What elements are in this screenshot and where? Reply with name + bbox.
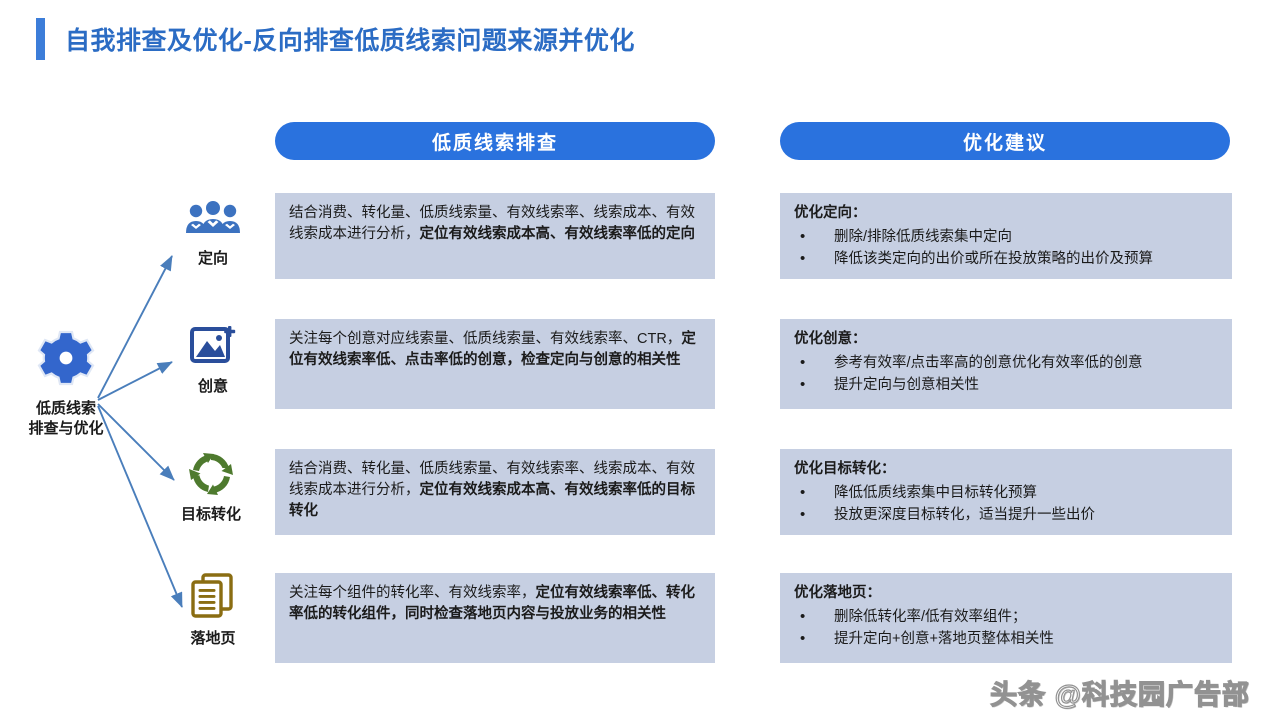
category-label-creative: 创意 [165, 375, 261, 396]
category-landing-page: 落地页 [165, 572, 261, 648]
image-add-icon [188, 324, 238, 368]
advice-item: 提升定向+创意+落地页整体相关性 [794, 628, 1220, 650]
advice-list: 降低低质线索集中目标转化预算 投放更深度目标转化，适当提升一些出价 [794, 482, 1220, 527]
watermark: 头条 @科技园广告部 [990, 673, 1250, 712]
advice-item: 提升定向与创意相关性 [794, 374, 1220, 396]
advice-title: 优化定向： [794, 203, 1220, 224]
advice-box-targeting: 优化定向： 删除/排除低质线索集中定向 降低该类定向的出价或所在投放策略的出价及… [780, 193, 1232, 279]
category-label-targeting: 定向 [165, 247, 261, 268]
category-creative: 创意 [165, 324, 261, 396]
checklist-box-targeting: 结合消费、转化量、低质线索量、有效线索率、线索成本、有效线索成本进行分析，定位有… [275, 193, 715, 279]
checklist-box-landing-page: 关注每个组件的转化率、有效线索率，定位有效线索率低、转化率低的转化组件，同时检查… [275, 573, 715, 663]
root-label: 低质线索 排查与优化 [6, 399, 126, 438]
title-accent-bar [36, 18, 45, 60]
root-label-line2: 排查与优化 [6, 419, 126, 439]
people-group-icon [183, 200, 243, 240]
column-header-checklist: 低质线索排查 [275, 122, 715, 160]
checklist-box-conversion: 结合消费、转化量、低质线索量、有效线索率、线索成本、有效线索成本进行分析，定位有… [275, 449, 715, 535]
slide-canvas: 自我排查及优化-反向排查低质线索问题来源并优化 低质线索排查 优化建议 低质线索… [0, 0, 1280, 720]
advice-list: 删除低转化率/低有效率组件； 提升定向+创意+落地页整体相关性 [794, 606, 1220, 651]
recycle-arrows-icon [187, 450, 235, 496]
advice-title: 优化创意： [794, 329, 1220, 350]
checklist-text-normal: 关注每个创意对应线索量、低质线索量、有效线索率、CTR， [289, 331, 681, 347]
advice-item: 参考有效率/点击率高的创意优化有效率低的创意 [794, 352, 1220, 374]
title-text: 自我排查及优化-反向排查低质线索问题来源并优化 [65, 21, 635, 57]
advice-list: 参考有效率/点击率高的创意优化有效率低的创意 提升定向与创意相关性 [794, 352, 1220, 397]
category-label-conversion: 目标转化 [163, 503, 259, 524]
checklist-box-creative: 关注每个创意对应线索量、低质线索量、有效线索率、CTR，定位有效线索率低、点击率… [275, 319, 715, 409]
category-label-landing-page: 落地页 [165, 627, 261, 648]
advice-item: 降低低质线索集中目标转化预算 [794, 482, 1220, 504]
checklist-text-normal: 关注每个组件的转化率、有效线索率， [289, 585, 536, 601]
page-title: 自我排查及优化-反向排查低质线索问题来源并优化 [36, 18, 635, 60]
advice-item: 投放更深度目标转化，适当提升一些出价 [794, 504, 1220, 526]
category-conversion: 目标转化 [163, 450, 259, 524]
documents-icon [189, 572, 237, 620]
root-label-line1: 低质线索 [6, 399, 126, 419]
advice-item: 删除/排除低质线索集中定向 [794, 226, 1220, 248]
gear-icon [34, 330, 98, 390]
advice-box-conversion: 优化目标转化： 降低低质线索集中目标转化预算 投放更深度目标转化，适当提升一些出… [780, 449, 1232, 535]
category-targeting: 定向 [165, 200, 261, 268]
advice-box-creative: 优化创意： 参考有效率/点击率高的创意优化有效率低的创意 提升定向与创意相关性 [780, 319, 1232, 409]
advice-title: 优化目标转化： [794, 459, 1220, 480]
checklist-text-bold: 定位有效线索成本高、有效线索率低的定向 [420, 226, 696, 242]
advice-box-landing-page: 优化落地页： 删除低转化率/低有效率组件； 提升定向+创意+落地页整体相关性 [780, 573, 1232, 663]
root-node: 低质线索 排查与优化 [6, 330, 126, 438]
advice-item: 降低该类定向的出价或所在投放策略的出价及预算 [794, 248, 1220, 270]
advice-title: 优化落地页： [794, 583, 1220, 604]
column-header-advice: 优化建议 [780, 122, 1230, 160]
advice-item: 删除低转化率/低有效率组件； [794, 606, 1220, 628]
advice-list: 删除/排除低质线索集中定向 降低该类定向的出价或所在投放策略的出价及预算 [794, 226, 1220, 271]
